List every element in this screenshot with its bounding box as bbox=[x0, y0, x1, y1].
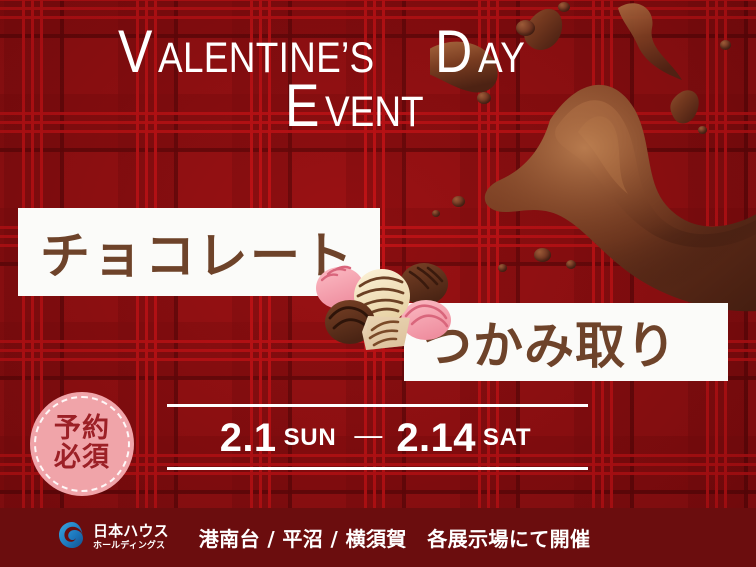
logo-main-text: 日本ハウス bbox=[93, 522, 169, 540]
chocolate-droplet bbox=[452, 196, 465, 207]
title-cap-v: V bbox=[118, 22, 153, 82]
venue-list: 港南台 / 平沼 / 横須賀 各展示場にて開催 bbox=[199, 523, 591, 552]
chocolate-droplet bbox=[498, 264, 507, 272]
date-rule-bottom bbox=[167, 467, 588, 470]
footer-bar: 日本ハウス ホールディングス 港南台 / 平沼 / 横須賀 各展示場にて開催 bbox=[0, 508, 756, 567]
title-rest-day: AY bbox=[478, 37, 525, 80]
event-title: VALENTINE’S DAY EVENT bbox=[0, 22, 700, 136]
date-separator: — bbox=[354, 419, 382, 451]
title-rest-event: VENT bbox=[325, 91, 424, 134]
title-line-1: VALENTINE’S DAY bbox=[0, 22, 700, 82]
reservation-required-badge: 予約 必須 bbox=[30, 392, 134, 496]
chocolate-droplet bbox=[558, 2, 570, 12]
chocolate-droplet bbox=[432, 210, 440, 217]
event-date-range: 2.1 SUN — 2.14 SAT bbox=[167, 412, 588, 464]
chocolate-droplet bbox=[566, 260, 576, 269]
badge-text: 予約 必須 bbox=[54, 415, 110, 472]
valentines-event-banner: VALENTINE’S DAY EVENT チョコレート つかみ取り bbox=[0, 0, 756, 567]
end-date-dow: SAT bbox=[483, 424, 531, 452]
title-rest-valentines: ALENTINE’S bbox=[158, 37, 374, 80]
logo-swirl-icon bbox=[58, 521, 86, 554]
title-line-2: EVENT bbox=[0, 76, 700, 136]
chocolate-bonbons bbox=[306, 246, 466, 366]
title-cap-e: E bbox=[285, 76, 319, 136]
title-cap-d: D bbox=[435, 22, 473, 82]
logo-sub-text: ホールディングス bbox=[93, 542, 169, 551]
badge-line-2: 必須 bbox=[54, 444, 110, 473]
company-logo: 日本ハウス ホールディングス bbox=[58, 521, 169, 554]
end-date-number: 2.14 bbox=[396, 416, 475, 461]
start-date-number: 2.1 bbox=[220, 416, 277, 461]
logo-text: 日本ハウス ホールディングス bbox=[93, 524, 169, 551]
date-rule-top bbox=[167, 404, 588, 407]
start-date-dow: SUN bbox=[284, 424, 337, 452]
badge-line-1: 予約 bbox=[54, 415, 110, 444]
chocolate-droplet bbox=[534, 248, 551, 262]
chocolate-droplet bbox=[720, 40, 731, 50]
